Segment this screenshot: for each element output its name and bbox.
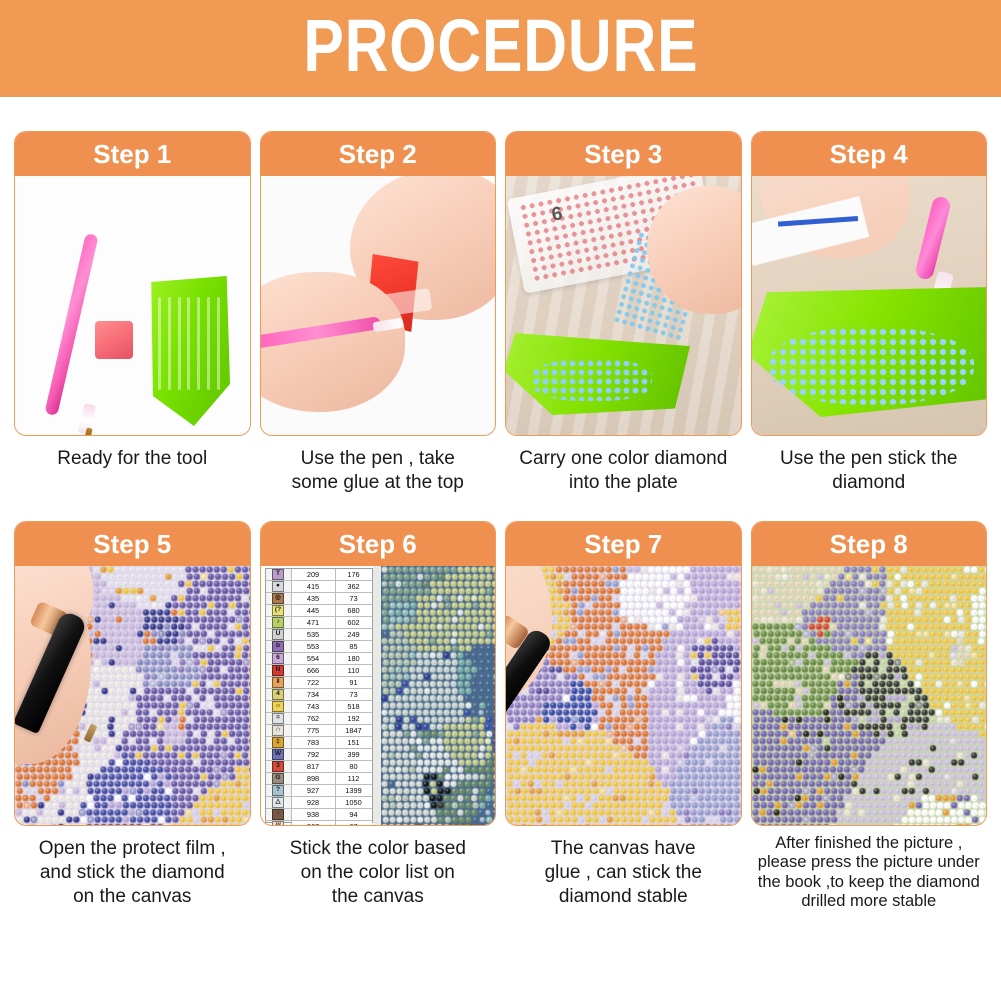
color-list-row: ∩7751847 <box>266 725 372 737</box>
color-list-row: T209176 <box>266 569 372 581</box>
color-count-cell: 362 <box>336 581 372 592</box>
color-symbol-icon: T <box>272 569 284 580</box>
step-card-2[interactable]: Step 2 <box>260 131 497 436</box>
color-symbol-cell: ? <box>266 785 292 796</box>
step-caption-5: Open the protect film , and stick the di… <box>14 837 251 910</box>
color-count-cell: 85 <box>336 641 372 652</box>
step-header-8: Step 8 <box>752 522 987 566</box>
color-code-cell: 722 <box>292 677 336 688</box>
color-symbol-cell: U <box>266 629 292 640</box>
color-code-cell: 554 <box>292 653 336 664</box>
step-cell-1: Step 1 Ready for the tool <box>14 131 251 496</box>
color-list-row: N666110 <box>266 665 372 677</box>
step-header-label-7: Step 7 <box>584 531 662 557</box>
color-symbol-cell: T <box>266 569 292 580</box>
color-code-cell: 817 <box>292 761 336 772</box>
color-symbol-icon: 4 <box>272 689 284 700</box>
color-symbol-icon: G <box>272 773 284 784</box>
step-image-8 <box>752 566 987 825</box>
step-caption-6: Stick the color based on the color list … <box>260 837 497 910</box>
step-header-7: Step 7 <box>506 522 741 566</box>
color-symbol-cell: N <box>266 665 292 676</box>
step-header-1: Step 1 <box>15 132 250 176</box>
pink-pen-icon <box>914 195 952 281</box>
color-symbol-cell: ↑ <box>266 809 292 820</box>
color-code-cell: 967 <box>292 821 336 825</box>
step-header-label-4: Step 4 <box>830 141 908 167</box>
color-symbol-icon: ◎ <box>272 593 284 604</box>
step-card-3[interactable]: Step 3 6 <box>505 131 742 436</box>
color-symbol-cell: 4 <box>266 689 292 700</box>
step-header-5: Step 5 <box>15 522 250 566</box>
page-title: PROCEDURE <box>303 9 698 89</box>
color-list-row: U535249 <box>266 629 372 641</box>
color-symbol-cell: W <box>266 749 292 760</box>
color-count-cell: 176 <box>336 569 372 580</box>
step-header-label-2: Step 2 <box>339 141 417 167</box>
color-list-row: 473473 <box>266 689 372 701</box>
color-symbol-icon: ‖ <box>272 677 284 688</box>
scene-hands-with-glue <box>261 176 496 435</box>
color-symbol-icon: ∩ <box>272 725 284 736</box>
step-cell-6: Step 6 T209176●415362◎43573(?445680♪4716… <box>260 521 497 912</box>
color-code-cell: 743 <box>292 701 336 712</box>
step-header-label-1: Step 1 <box>93 141 171 167</box>
color-count-cell: 151 <box>336 737 372 748</box>
color-symbol-cell: ♪ <box>266 617 292 628</box>
color-symbol-cell: ‖ <box>266 677 292 688</box>
color-code-cell: 762 <box>292 713 336 724</box>
color-list-row: b55385 <box>266 641 372 653</box>
color-symbol-icon: △ <box>272 797 284 808</box>
color-symbol-icon: 6 <box>272 653 284 664</box>
color-symbol-icon: /// <box>272 821 284 825</box>
color-count-cell: 112 <box>336 773 372 784</box>
color-count-cell: 73 <box>336 689 372 700</box>
color-symbol-cell: /// <box>266 821 292 825</box>
mosaic-surface <box>381 566 496 825</box>
color-code-cell: 435 <box>292 593 336 604</box>
color-symbol-icon: ☼ <box>272 701 284 712</box>
color-code-cell: 209 <box>292 569 336 580</box>
color-count-cell: 680 <box>336 605 372 616</box>
step-header-6: Step 6 <box>261 522 496 566</box>
step-card-8[interactable]: Step 8 <box>751 521 988 826</box>
step-header-label-3: Step 3 <box>584 141 662 167</box>
color-code-cell: 938 <box>292 809 336 820</box>
color-symbol-cell: △ <box>266 797 292 808</box>
color-count-cell: 80 <box>336 761 372 772</box>
color-code-cell: 666 <box>292 665 336 676</box>
color-list-table[interactable]: T209176●415362◎43573(?445680♪471602U5352… <box>265 568 373 823</box>
color-symbol-icon: = <box>272 713 284 724</box>
color-count-cell: 602 <box>336 617 372 628</box>
color-list-row: W792399 <box>266 749 372 761</box>
steps-row-bottom: Step 5 Open the protect film , and stick… <box>14 521 987 912</box>
step-caption-1: Ready for the tool <box>14 447 251 471</box>
step-image-6: T209176●415362◎43573(?445680♪471602U5352… <box>261 566 496 825</box>
step-image-3: 6 <box>506 176 741 435</box>
step-caption-3: Carry one color diamond into the plate <box>505 447 742 496</box>
step-cell-5: Step 5 Open the protect film , and stick… <box>14 521 251 912</box>
color-count-cell: 67 <box>336 821 372 825</box>
step-header-3: Step 3 <box>506 132 741 176</box>
color-code-cell: 535 <box>292 629 336 640</box>
scene-pen-over-tray <box>752 176 987 435</box>
step-header-label-5: Step 5 <box>93 531 171 557</box>
color-list-row: ///96767 <box>266 821 372 825</box>
blue-diamonds <box>532 359 652 401</box>
step-caption-2: Use the pen , take some glue at the top <box>260 447 497 496</box>
color-list-row: ?9271399 <box>266 785 372 797</box>
step-cell-2: Step 2 Use the pen , take some glue at t… <box>260 131 497 496</box>
step-card-6[interactable]: Step 6 T209176●415362◎43573(?445680♪4716… <box>260 521 497 826</box>
color-count-cell: 94 <box>336 809 372 820</box>
steps-row-top: Step 1 Ready for the tool <box>14 131 987 496</box>
color-count-cell: 91 <box>336 677 372 688</box>
color-symbol-cell: b <box>266 641 292 652</box>
color-code-cell: 927 <box>292 785 336 796</box>
color-symbol-icon: b <box>272 641 284 652</box>
color-code-cell: 471 <box>292 617 336 628</box>
color-count-cell: 1050 <box>336 797 372 808</box>
color-symbol-cell: ☼ <box>266 701 292 712</box>
step-cell-8: Step 8 After finished the picture , plea… <box>751 521 988 912</box>
color-symbol-cell: ∩ <box>266 725 292 736</box>
color-list-row: ♪471602 <box>266 617 372 629</box>
color-symbol-cell: 3 <box>266 761 292 772</box>
color-symbol-cell: (? <box>266 605 292 616</box>
color-list-row: 381780 <box>266 761 372 773</box>
color-count-cell: 249 <box>336 629 372 640</box>
step-cell-7: Step 7 The canvas have glue , can stick … <box>505 521 742 912</box>
color-list-row: ↑93894 <box>266 809 372 821</box>
color-count-cell: 1847 <box>336 725 372 736</box>
color-code-cell: 928 <box>292 797 336 808</box>
step-image-1 <box>15 176 250 435</box>
color-symbol-icon: W <box>272 749 284 760</box>
color-list-row: ◎43573 <box>266 593 372 605</box>
step-image-4 <box>752 176 987 435</box>
color-list-row: ‡783151 <box>266 737 372 749</box>
color-symbol-cell: ‡ <box>266 737 292 748</box>
finished-diamond-painting <box>752 566 987 825</box>
color-code-cell: 783 <box>292 737 336 748</box>
color-count-cell: 110 <box>336 665 372 676</box>
color-list-row: △9281050 <box>266 797 372 809</box>
color-symbol-icon: N <box>272 665 284 676</box>
step-caption-4: Use the pen stick the diamond <box>751 447 988 496</box>
color-list-row: ●415362 <box>266 581 372 593</box>
step-card-7[interactable]: Step 7 <box>505 521 742 826</box>
glue-square-icon <box>95 321 133 359</box>
green-tray-icon <box>148 276 230 426</box>
color-code-cell: 445 <box>292 605 336 616</box>
scene-tools-on-white <box>15 176 250 435</box>
color-symbol-icon: U <box>272 629 284 640</box>
color-symbol-icon: ↑ <box>272 809 284 820</box>
step-header-2: Step 2 <box>261 132 496 176</box>
color-symbol-icon: ‡ <box>272 737 284 748</box>
color-list-row: ‖72291 <box>266 677 372 689</box>
color-count-cell: 399 <box>336 749 372 760</box>
step-card-1[interactable]: Step 1 <box>14 131 251 436</box>
step-card-4[interactable]: Step 4 <box>751 131 988 436</box>
step-image-7 <box>506 566 741 825</box>
pink-pen-icon <box>44 233 98 416</box>
color-count-cell: 73 <box>336 593 372 604</box>
color-count-cell: 192 <box>336 713 372 724</box>
step-header-4: Step 4 <box>752 132 987 176</box>
color-count-cell: 1399 <box>336 785 372 796</box>
color-list-row: =762192 <box>266 713 372 725</box>
step-header-label-6: Step 6 <box>339 531 417 557</box>
color-code-cell: 734 <box>292 689 336 700</box>
color-symbol-icon: 3 <box>272 761 284 772</box>
color-count-cell: 518 <box>336 701 372 712</box>
color-symbol-cell: = <box>266 713 292 724</box>
step-image-5 <box>15 566 250 825</box>
color-code-cell: 415 <box>292 581 336 592</box>
diamond-canvas <box>381 566 496 825</box>
step-image-2 <box>261 176 496 435</box>
color-symbol-cell: ● <box>266 581 292 592</box>
color-list-row: G898112 <box>266 773 372 785</box>
scene-bag-pouring: 6 <box>506 176 741 435</box>
color-code-cell: 898 <box>292 773 336 784</box>
color-symbol-icon: ● <box>272 581 284 592</box>
page-banner: PROCEDURE <box>0 0 1001 97</box>
legend-divider <box>373 566 381 825</box>
step-caption-8: After finished the picture , please pres… <box>751 834 988 912</box>
color-symbol-icon: ♪ <box>272 617 284 628</box>
color-list-row: 6554180 <box>266 653 372 665</box>
color-code-cell: 792 <box>292 749 336 760</box>
color-symbol-cell: G <box>266 773 292 784</box>
color-symbol-icon: ? <box>272 785 284 796</box>
step-cell-4: Step 4 Use the pen stick the diamond <box>751 131 988 496</box>
color-list-row: (?445680 <box>266 605 372 617</box>
color-symbol-icon: (? <box>272 605 284 616</box>
step-header-label-8: Step 8 <box>830 531 908 557</box>
steps-grid: Step 1 Ready for the tool <box>0 131 1001 912</box>
step-cell-3: Step 3 6 Carry one color diamond in <box>505 131 742 496</box>
blue-diamonds <box>768 327 974 405</box>
color-list-row: ☼743518 <box>266 701 372 713</box>
color-symbol-cell: 6 <box>266 653 292 664</box>
color-code-cell: 775 <box>292 725 336 736</box>
color-count-cell: 180 <box>336 653 372 664</box>
color-symbol-cell: ◎ <box>266 593 292 604</box>
step-caption-7: The canvas have glue , can stick the dia… <box>505 837 742 910</box>
color-code-cell: 553 <box>292 641 336 652</box>
step-card-5[interactable]: Step 5 <box>14 521 251 826</box>
